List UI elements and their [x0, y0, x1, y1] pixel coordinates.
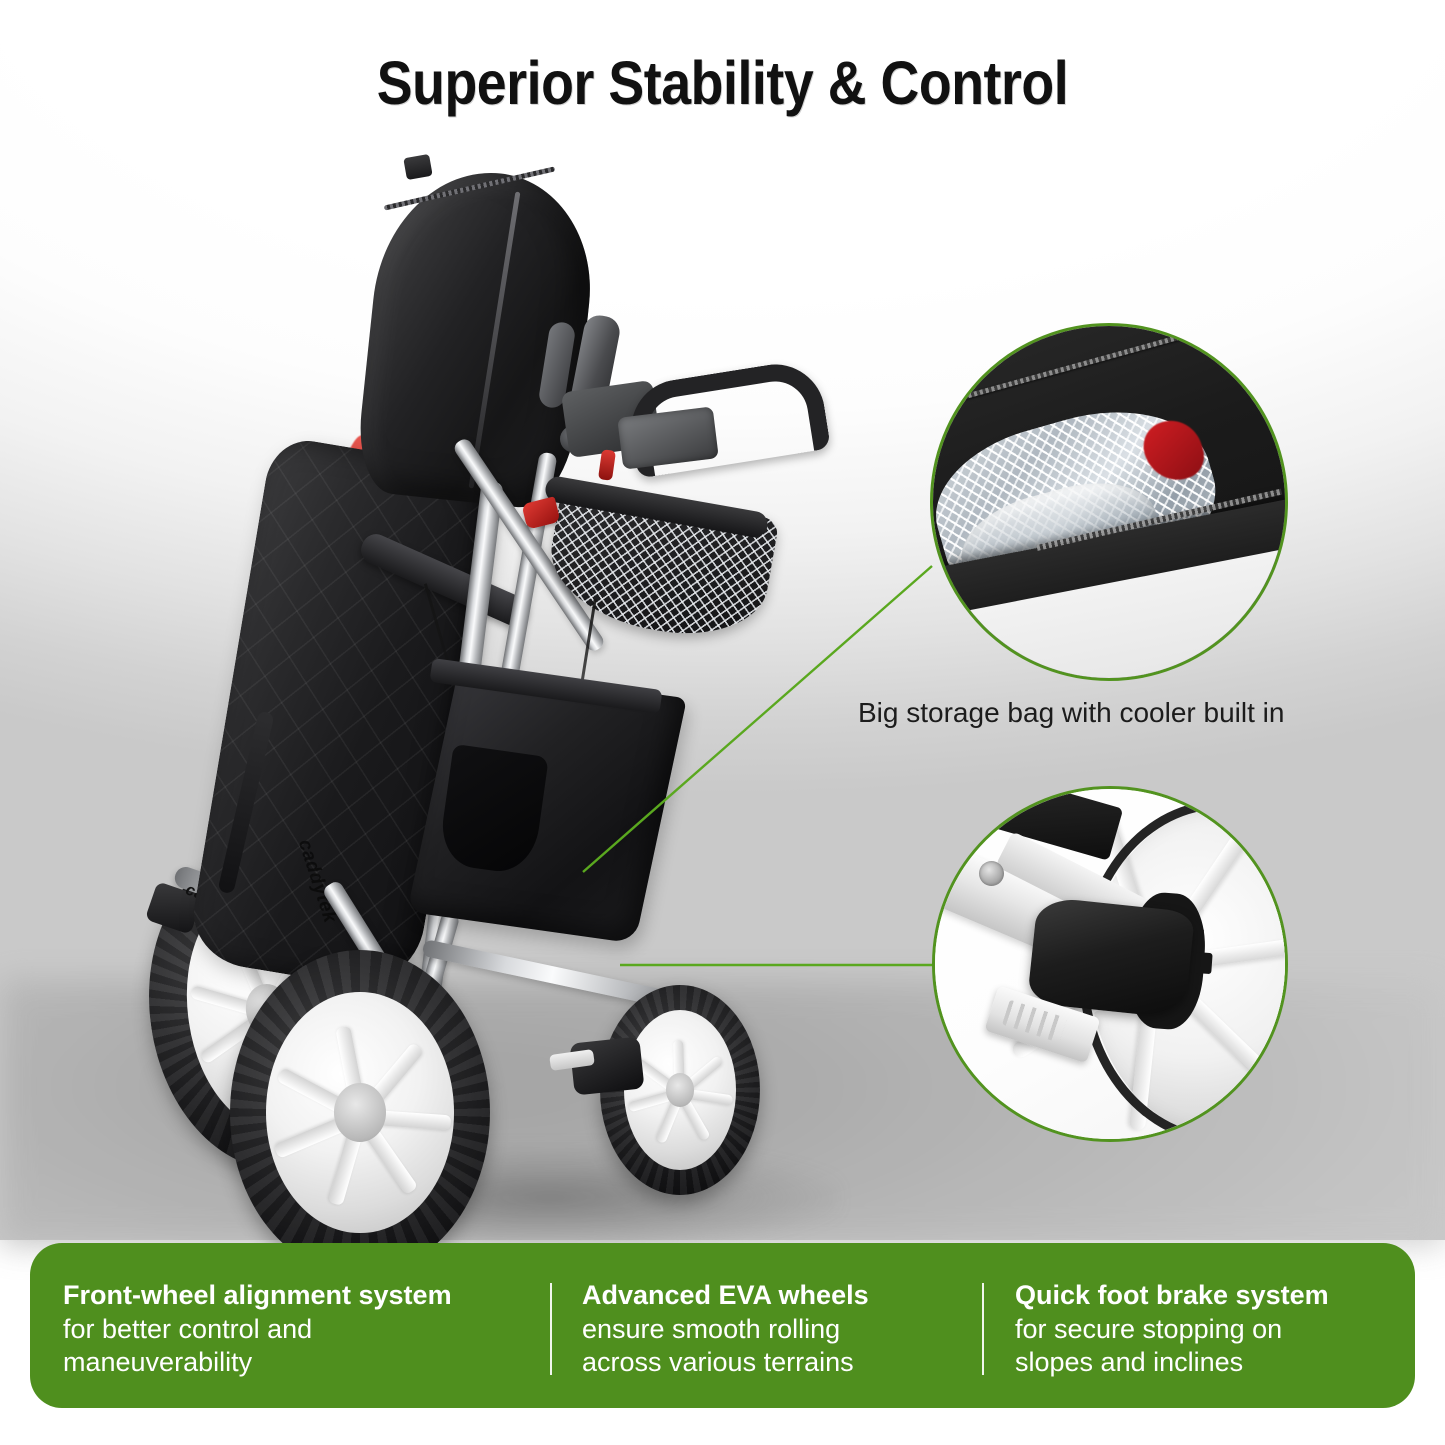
red-accent-tab — [598, 449, 616, 481]
cooler-photo — [930, 323, 1288, 681]
callout-circle-brake — [932, 786, 1288, 1142]
feature-body-line-2: maneuverability — [63, 1346, 550, 1378]
product-image: caddytek caddytek — [120, 150, 920, 1240]
feature-headline: Advanced EVA wheels — [582, 1280, 982, 1311]
feature-body-line-2: across various terrains — [582, 1346, 982, 1378]
feature-body-line-1: for secure stopping on — [1015, 1313, 1382, 1345]
feature-column-front-wheel: Front-wheel alignment system for better … — [30, 1243, 550, 1378]
feature-banner: Front-wheel alignment system for better … — [30, 1243, 1415, 1408]
feature-column-eva-wheels: Advanced EVA wheels ensure smooth rollin… — [550, 1243, 982, 1378]
wheel-hub — [334, 1083, 386, 1142]
wheel-hub — [666, 1073, 695, 1107]
page-title: Superior Stability & Control — [87, 48, 1359, 118]
column-divider — [982, 1283, 984, 1375]
brake-photo — [932, 786, 1288, 1142]
product-feature-graphic: Superior Stability & Control caddytek ca… — [0, 0, 1445, 1445]
callout-circle-cooler — [930, 323, 1288, 681]
feature-body-line-1: ensure smooth rolling — [582, 1313, 982, 1345]
feature-body-line-2: slopes and inclines — [1015, 1346, 1382, 1378]
feature-headline: Front-wheel alignment system — [63, 1280, 550, 1311]
column-divider — [550, 1283, 552, 1375]
hood-pull-tab — [403, 154, 432, 180]
front-wheel — [230, 950, 490, 1275]
callout-caption-cooler: Big storage bag with cooler built in — [858, 697, 1378, 729]
feature-body-line-1: for better control and — [63, 1313, 550, 1345]
feature-headline: Quick foot brake system — [1015, 1280, 1382, 1311]
brake-housing — [1027, 896, 1195, 1019]
frame-bolt — [979, 861, 1004, 886]
feature-column-foot-brake: Quick foot brake system for secure stopp… — [982, 1243, 1382, 1378]
